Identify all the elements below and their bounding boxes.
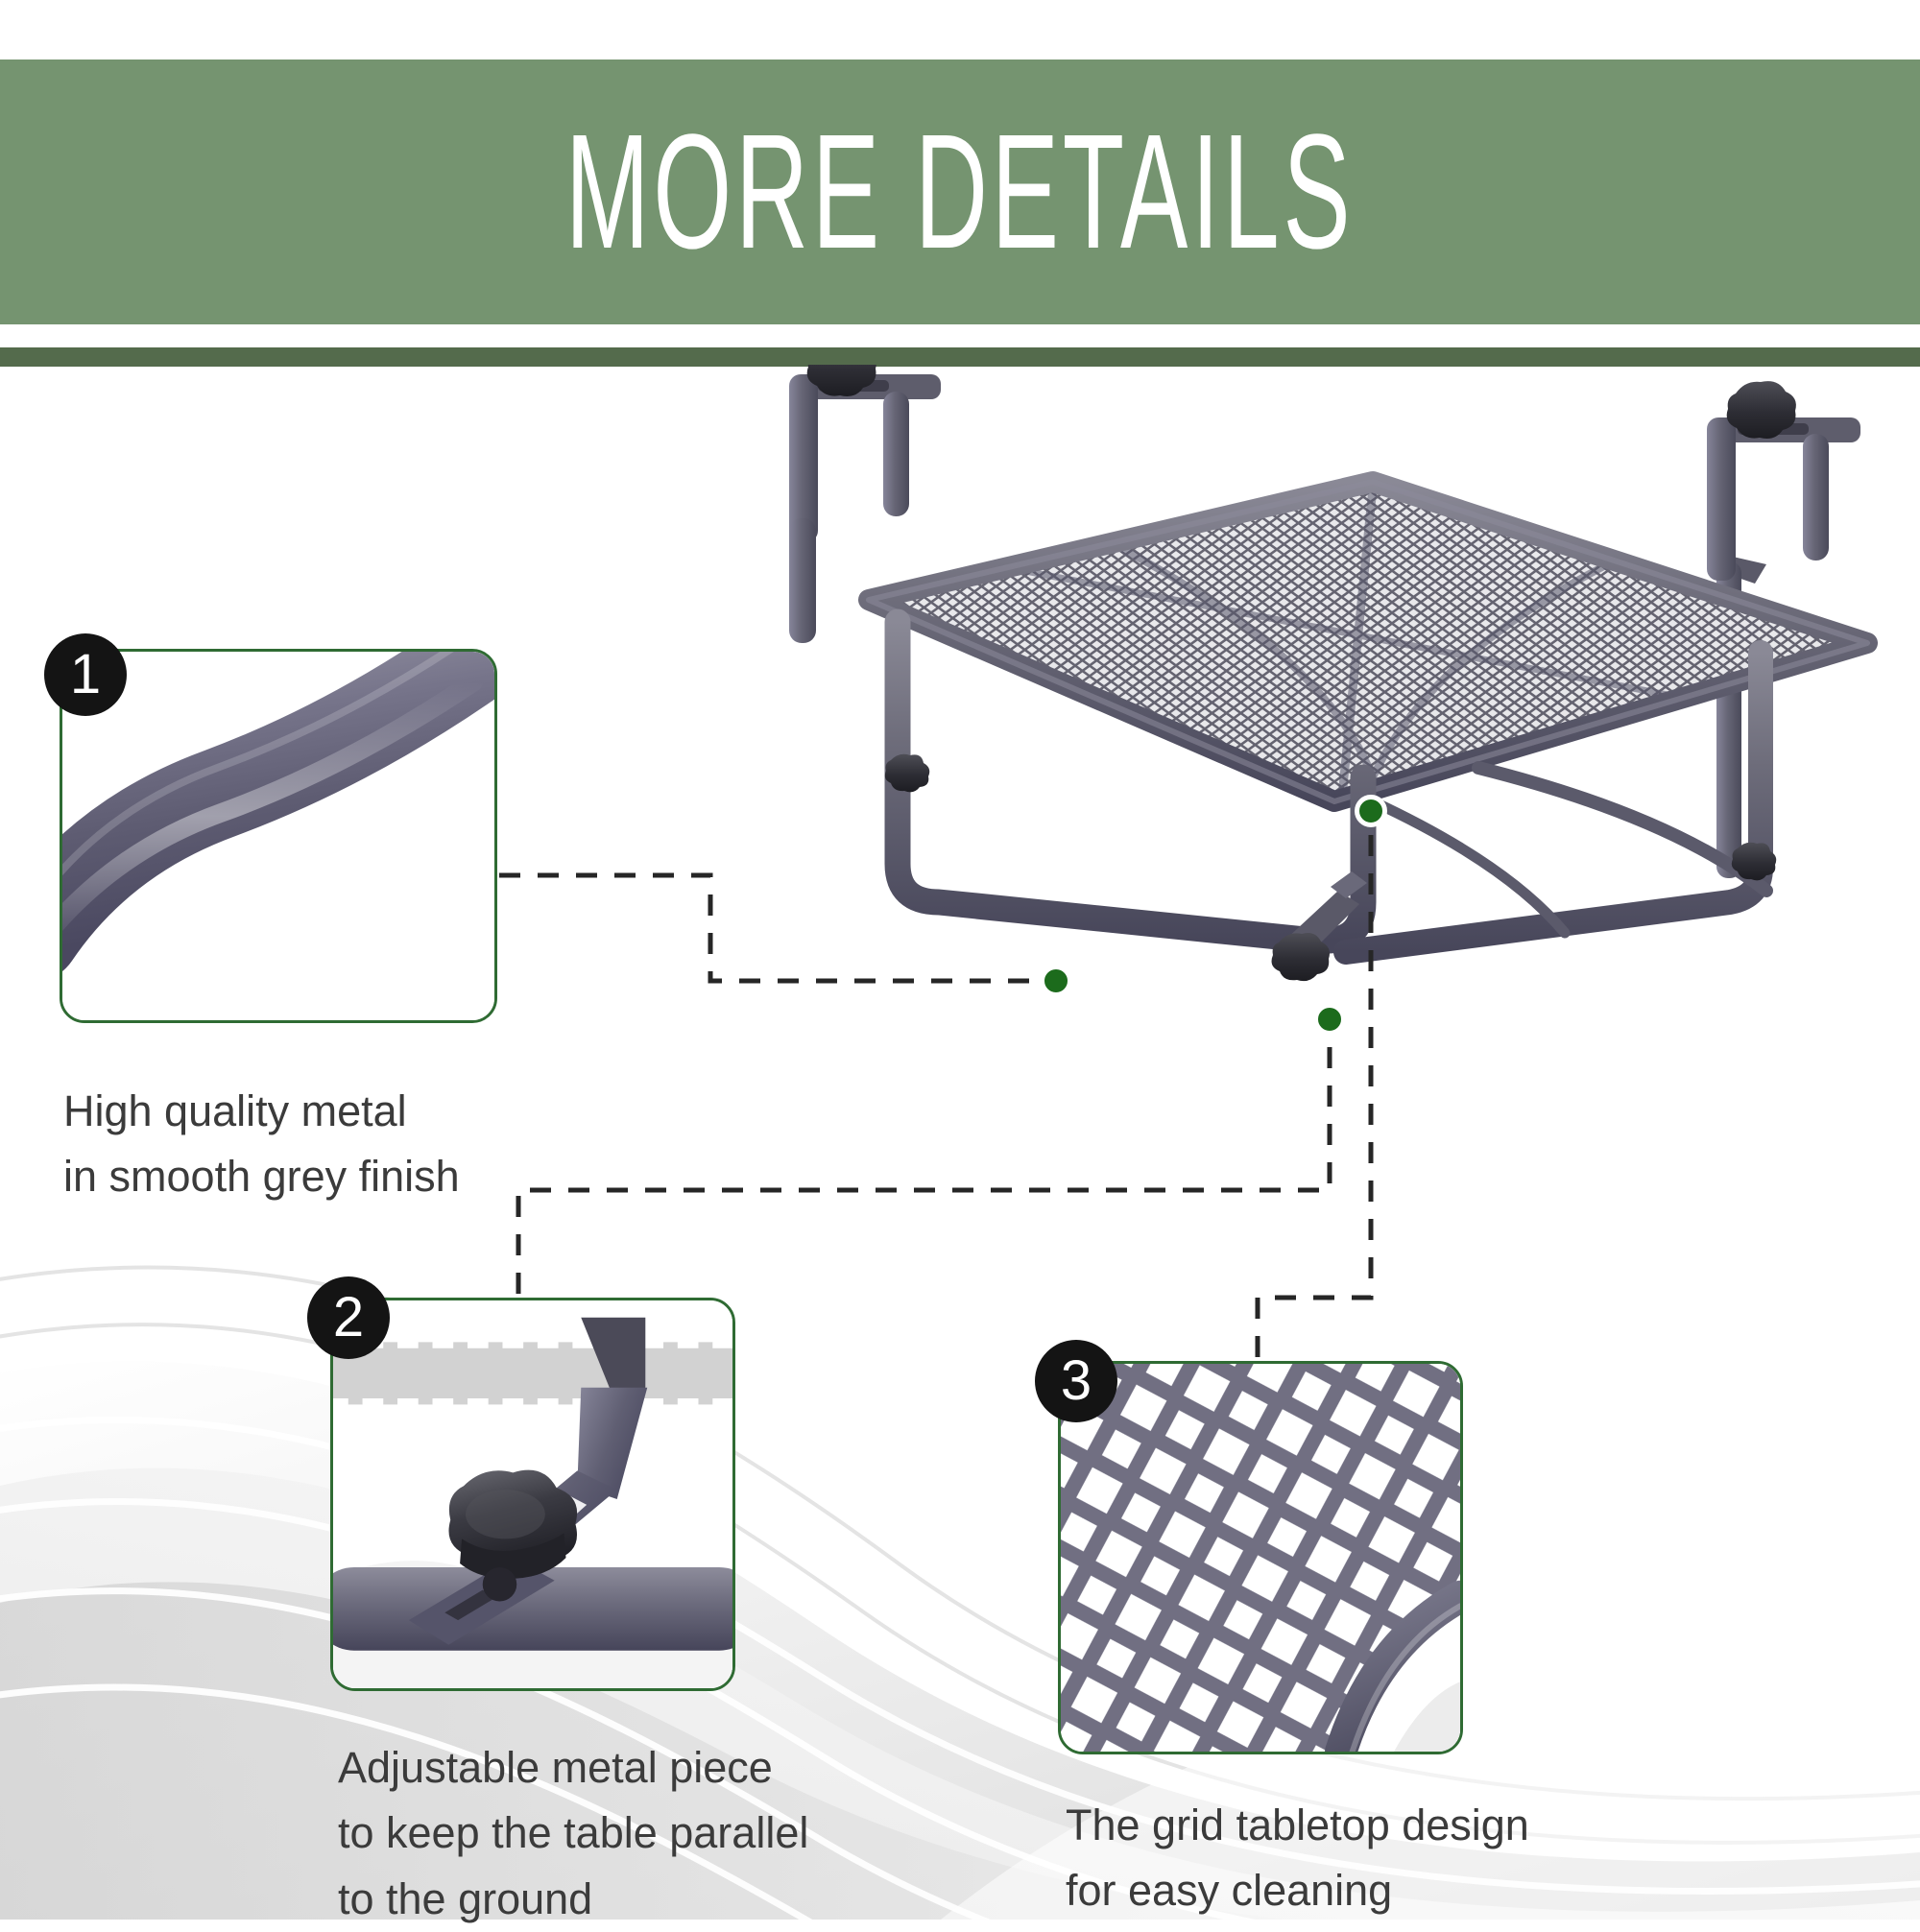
callout-1-image [62,652,494,1021]
header-banner: MORE DETAILS [0,60,1920,324]
callout-caption-2: Adjustable metal piece to keep the table… [338,1735,933,1932]
callout-badge-3: 3 [1035,1340,1117,1422]
callout-card-2[interactable] [330,1298,735,1691]
callout-caption-3: The grid tabletop design for easy cleani… [1066,1793,1642,1924]
callout-card-1[interactable] [60,649,497,1023]
page-title: MORE DETAILS [565,110,1355,274]
callout-card-3[interactable] [1058,1361,1463,1754]
callout-caption-1: High quality metal in smooth grey finish [63,1079,601,1210]
product-hero-image [701,365,1920,1142]
callout-badge-1: 1 [44,633,127,716]
header-accent-bar [0,347,1920,367]
callout-badge-2: 2 [307,1276,390,1359]
callout-2-image [333,1300,732,1688]
infographic-stage: MORE DETAILS [0,0,1920,1920]
callout-3-image [1061,1364,1460,1752]
